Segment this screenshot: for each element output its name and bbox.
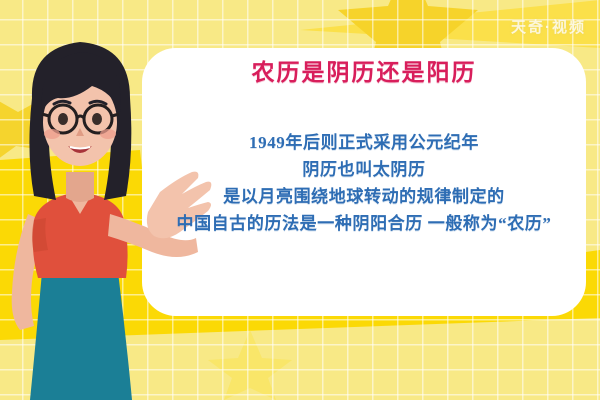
body-line-4: 中国自古的历法是一种阴阳合历 一般称为“农历” [142, 210, 586, 237]
page-title: 农历是阴历还是阳历 [142, 58, 586, 88]
body-line-1: 1949年后则正式采用公元纪年 [142, 129, 586, 156]
bubble-text-content: 农历是阴历还是阳历 1949年后则正式采用公元纪年 阴历也叫太阴历 是以月亮围绕… [142, 48, 586, 316]
body-line-3: 是以月亮围绕地球转动的规律制定的 [142, 183, 586, 210]
body-text-block: 1949年后则正式采用公元纪年 阴历也叫太阴历 是以月亮围绕地球转动的规律制定的… [142, 129, 586, 237]
watermark-logo: 天奇·视频 [511, 16, 586, 37]
body-line-2: 阴历也叫太阴历 [142, 156, 586, 183]
video-frame: 农历是阴历还是阳历 1949年后则正式采用公元纪年 阴历也叫太阴历 是以月亮围绕… [0, 0, 600, 400]
